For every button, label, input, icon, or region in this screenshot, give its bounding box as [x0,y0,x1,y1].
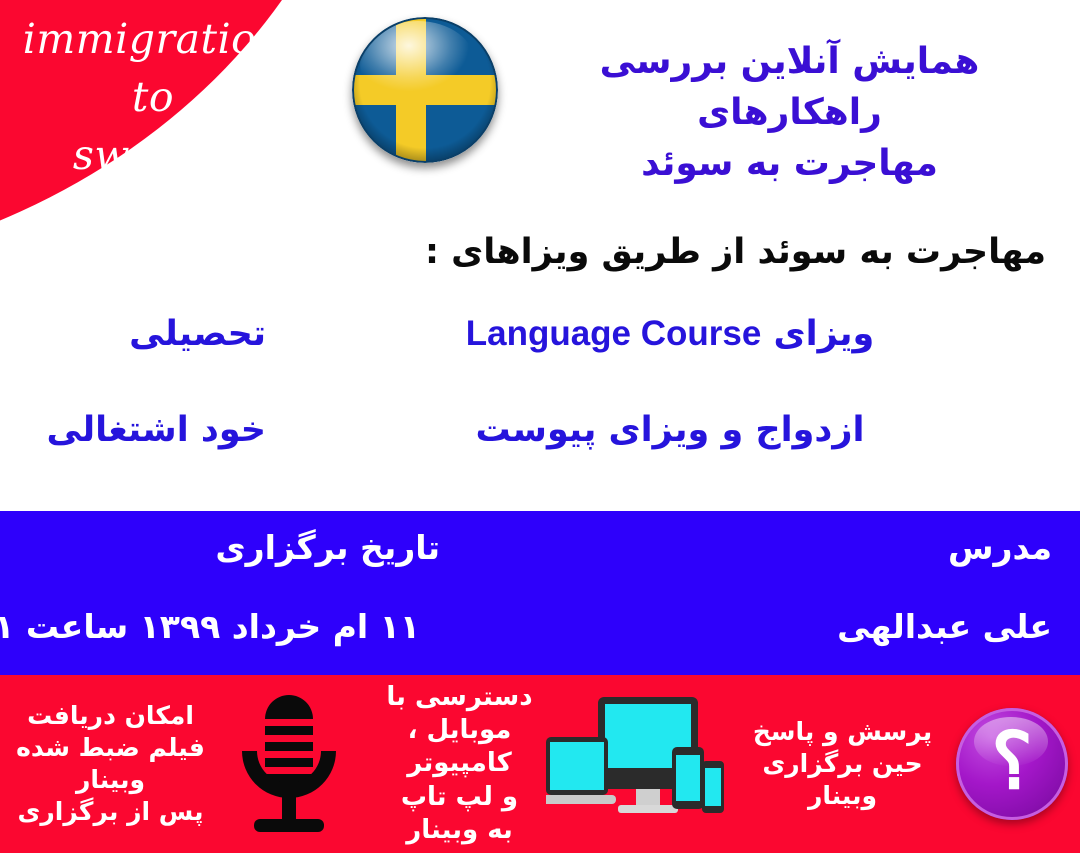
feature-recording-text: امکان دریافت فیلم ضبط شده وبینار پس از ب… [3,700,218,828]
question-mark-icon: ؟ [956,708,1080,820]
date-value: ۱۱ ام خرداد ۱۳۹۹ ساعت ۲۱ [0,607,420,646]
page-title: همایش آنلاین بررسی راهکارهای مهاجرت به س… [517,36,1062,189]
question-mark-glyph: ؟ [991,722,1032,800]
devices-icon [546,689,728,839]
visa-row: ویزای Language Course تحصیلی [0,314,1080,354]
visa-section-heading: مهاجرت به سوئد از طریق ویزاهای : [36,232,1046,272]
visa-label-prefix: ویزای [774,314,875,354]
poster-canvas: immigration to sweden [0,0,1080,853]
date-label: تاریخ برگزاری [215,528,440,567]
visa-label-prefix: ازدواج و ویزای پیوست [476,410,865,450]
visa-label-latin: Language Course [466,314,762,353]
visa-item-study: تحصیلی [0,314,300,354]
visa-item-language-course: ویزای Language Course [300,314,1080,354]
feature-devices: دسترسی با موبایل ، کامپیوتر و لپ تاپ به … [350,675,728,853]
visa-item-marriage: ازدواج و ویزای پیوست [300,410,1080,450]
teacher-name: علی عبدالهی [837,607,1052,646]
sweden-flag-icon [352,17,498,163]
microphone-icon [228,689,350,839]
feature-qa: ؟ پرسش و پاسخ حین برگزاری وبینار [728,675,1080,853]
feature-recording: امکان دریافت فیلم ضبط شده وبینار پس از ب… [0,675,350,853]
feature-qa-text: پرسش و پاسخ حین برگزاری وبینار [735,716,950,812]
event-info-band: مدرس علی عبدالهی تاریخ برگزاری ۱۱ ام خرد… [0,511,1080,675]
visa-row: ازدواج و ویزای پیوست خود اشتغالی [0,410,1080,450]
features-band: ؟ پرسش و پاسخ حین برگزاری وبینار [0,675,1080,853]
english-caption: immigration to sweden [8,10,298,185]
teacher-label: مدرس [948,528,1052,567]
visa-item-self-employment: خود اشتغالی [0,410,300,450]
feature-devices-text: دسترسی با موبایل ، کامپیوتر و لپ تاپ به … [377,681,542,847]
